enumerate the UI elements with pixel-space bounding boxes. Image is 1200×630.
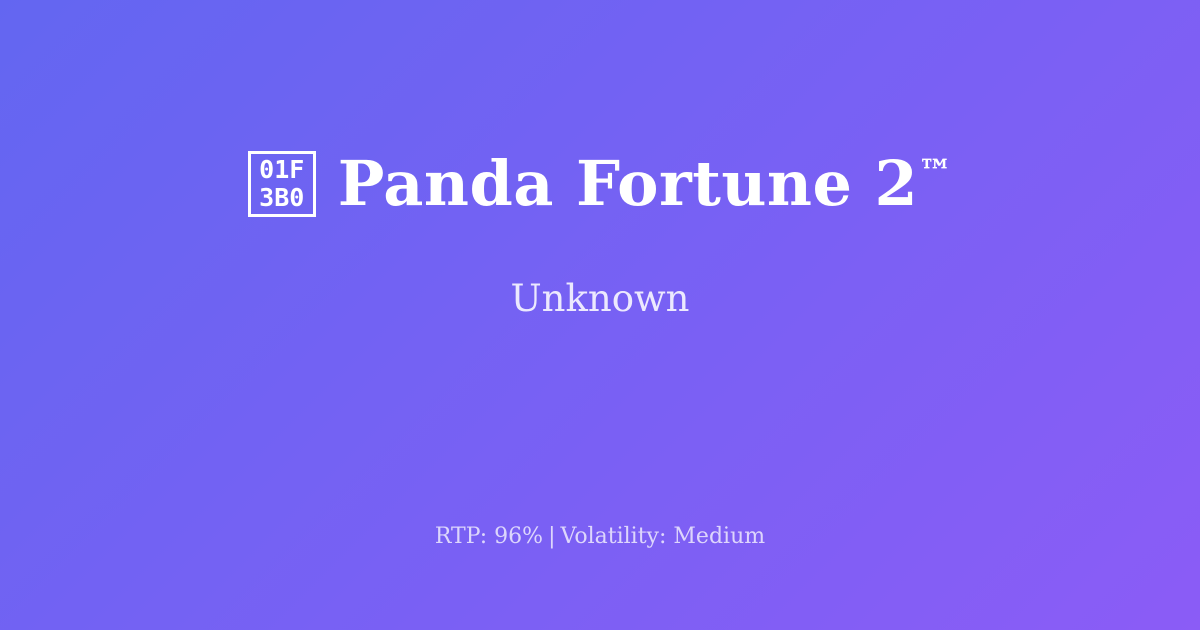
trademark-symbol: ™ (918, 152, 952, 192)
slot-machine-icon: 01F 3B0 (248, 151, 316, 217)
volatility-value: Medium (673, 524, 765, 549)
game-provider-subtitle: Unknown (510, 279, 689, 320)
meta-separator: | (543, 524, 560, 549)
game-title-name: Panda Fortune 2 (338, 147, 918, 220)
card-center-stack: 01F 3B0 Panda Fortune 2™ Unknown (0, 0, 1200, 470)
rtp-value: 96% (494, 524, 543, 549)
rtp-label: RTP: (435, 524, 487, 549)
volatility-label: Volatility: (561, 524, 667, 549)
game-og-card: 01F 3B0 Panda Fortune 2™ Unknown RTP: 96… (0, 0, 1200, 630)
title-row: 01F 3B0 Panda Fortune 2™ (0, 151, 1200, 217)
tofu-codepoint-top: 01F (259, 156, 304, 184)
game-meta-line: RTP: 96%|Volatility: Medium (0, 524, 1200, 550)
game-title: Panda Fortune 2™ (338, 151, 953, 216)
tofu-codepoint-bottom: 3B0 (259, 184, 304, 212)
